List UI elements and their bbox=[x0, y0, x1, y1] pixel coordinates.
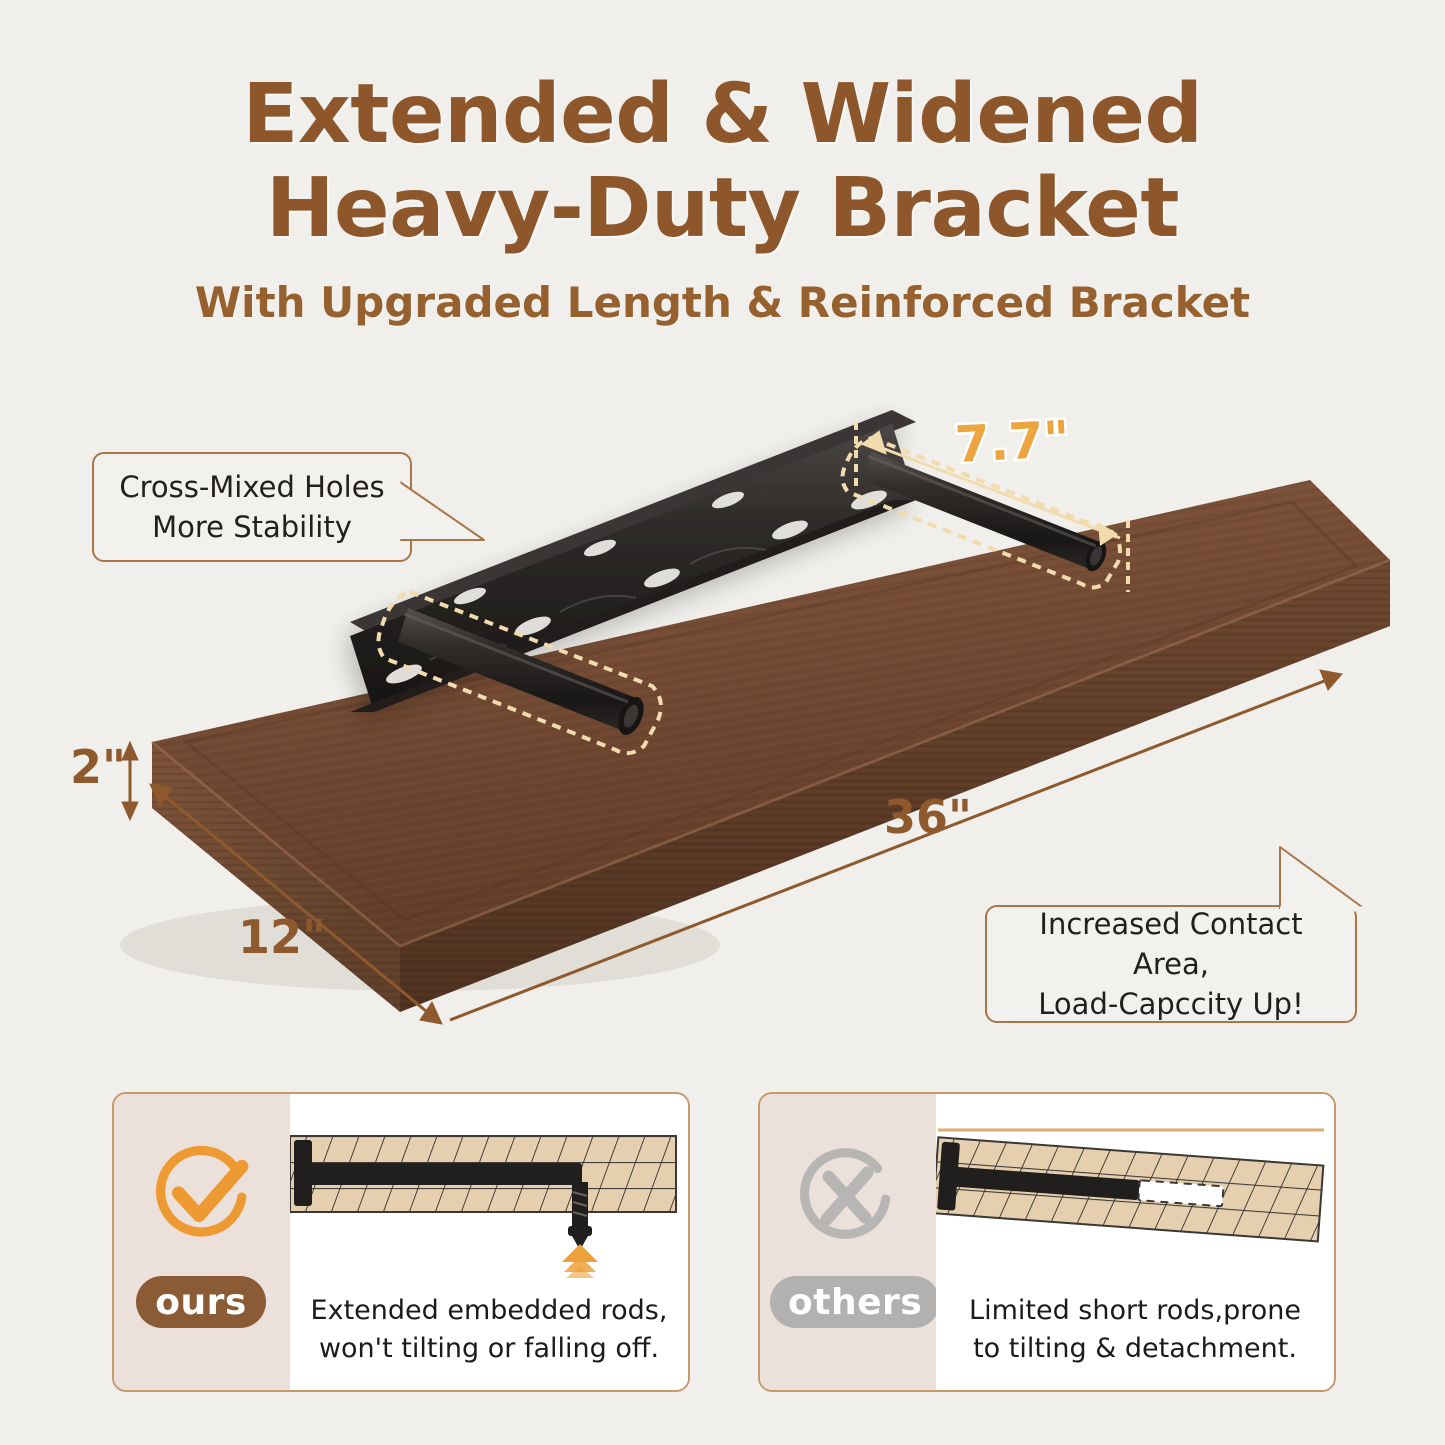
callout-cross-mixed-holes: Cross-Mixed Holes More Stability bbox=[92, 452, 412, 562]
callout-contact-line2: Load-Capccity Up! bbox=[1038, 984, 1303, 1024]
callout-contact-line1: Increased Contact Area, bbox=[999, 904, 1343, 984]
page-title-line2: Heavy-Duty Bracket bbox=[0, 162, 1445, 256]
dimension-label-length: 36" bbox=[884, 790, 972, 844]
badge-ours: ours bbox=[136, 1276, 266, 1328]
figure-others-short-rod bbox=[936, 1110, 1334, 1280]
callout-increased-contact-area: Increased Contact Area, Load-Capccity Up… bbox=[985, 905, 1357, 1023]
dimension-label-height: 2" bbox=[70, 740, 126, 794]
badge-others: others bbox=[770, 1276, 940, 1328]
panel-others-caption: Limited short rods,prone to tilting & de… bbox=[936, 1292, 1334, 1368]
panel-others-left-column: others bbox=[760, 1094, 936, 1390]
panel-ours-caption-line1: Extended embedded rods, bbox=[300, 1292, 678, 1330]
comparison-panel-others: others bbox=[758, 1092, 1336, 1392]
panel-others-caption-line2: to tilting & detachment. bbox=[946, 1330, 1324, 1368]
comparison-panel-ours: ours bbox=[112, 1092, 690, 1392]
page-title-line1: Extended & Widened bbox=[0, 68, 1445, 162]
figure-ours-embedded-rod bbox=[290, 1110, 688, 1280]
panel-ours-left-column: ours bbox=[114, 1094, 290, 1390]
panel-ours-caption: Extended embedded rods, won't tilting or… bbox=[290, 1292, 688, 1368]
panel-others-right-column: Limited short rods,prone to tilting & de… bbox=[936, 1094, 1334, 1390]
check-circle-icon bbox=[152, 1142, 254, 1244]
callout-holes-line2: More Stability bbox=[152, 507, 352, 547]
header: Extended & Widened Heavy-Duty Bracket Wi… bbox=[0, 68, 1445, 328]
dimension-label-depth: 12" bbox=[238, 910, 326, 964]
panel-ours-right-column: Extended embedded rods, won't tilting or… bbox=[290, 1094, 688, 1390]
callout-holes-line1: Cross-Mixed Holes bbox=[119, 467, 384, 507]
upward-force-arrows bbox=[562, 1244, 598, 1278]
panel-others-caption-line1: Limited short rods,prone bbox=[946, 1292, 1324, 1330]
page-subtitle: With Upgraded Length & Reinforced Bracke… bbox=[0, 278, 1445, 328]
dimension-label-rod-length: 7.7" bbox=[954, 410, 1072, 474]
product-infographic: Extended & Widened Heavy-Duty Bracket Wi… bbox=[0, 0, 1445, 1445]
x-circle-icon bbox=[798, 1142, 900, 1244]
panel-ours-caption-line2: won't tilting or falling off. bbox=[300, 1330, 678, 1368]
rod-length-text: 7.7" bbox=[954, 410, 1072, 474]
